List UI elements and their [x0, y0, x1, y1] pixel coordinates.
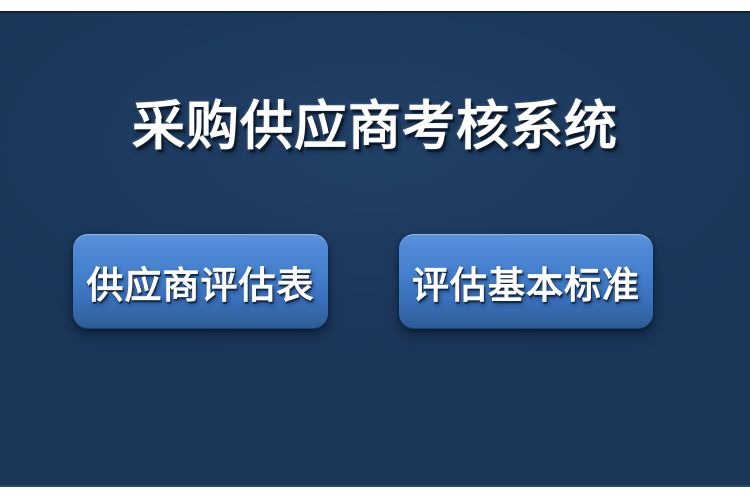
bottom-page-margin: [0, 487, 750, 501]
application-window: 采购供应商考核系统 供应商评估表 评估基本标准: [0, 0, 750, 501]
main-screen-canvas: 采购供应商考核系统 供应商评估表 评估基本标准: [0, 13, 750, 485]
page-title: 采购供应商考核系统: [0, 98, 750, 155]
top-page-margin: [0, 0, 750, 11]
main-menu-button-row: 供应商评估表 评估基本标准: [0, 234, 750, 330]
supplier-evaluation-form-button[interactable]: 供应商评估表: [73, 234, 328, 329]
evaluation-basic-standard-button[interactable]: 评估基本标准: [399, 234, 653, 329]
